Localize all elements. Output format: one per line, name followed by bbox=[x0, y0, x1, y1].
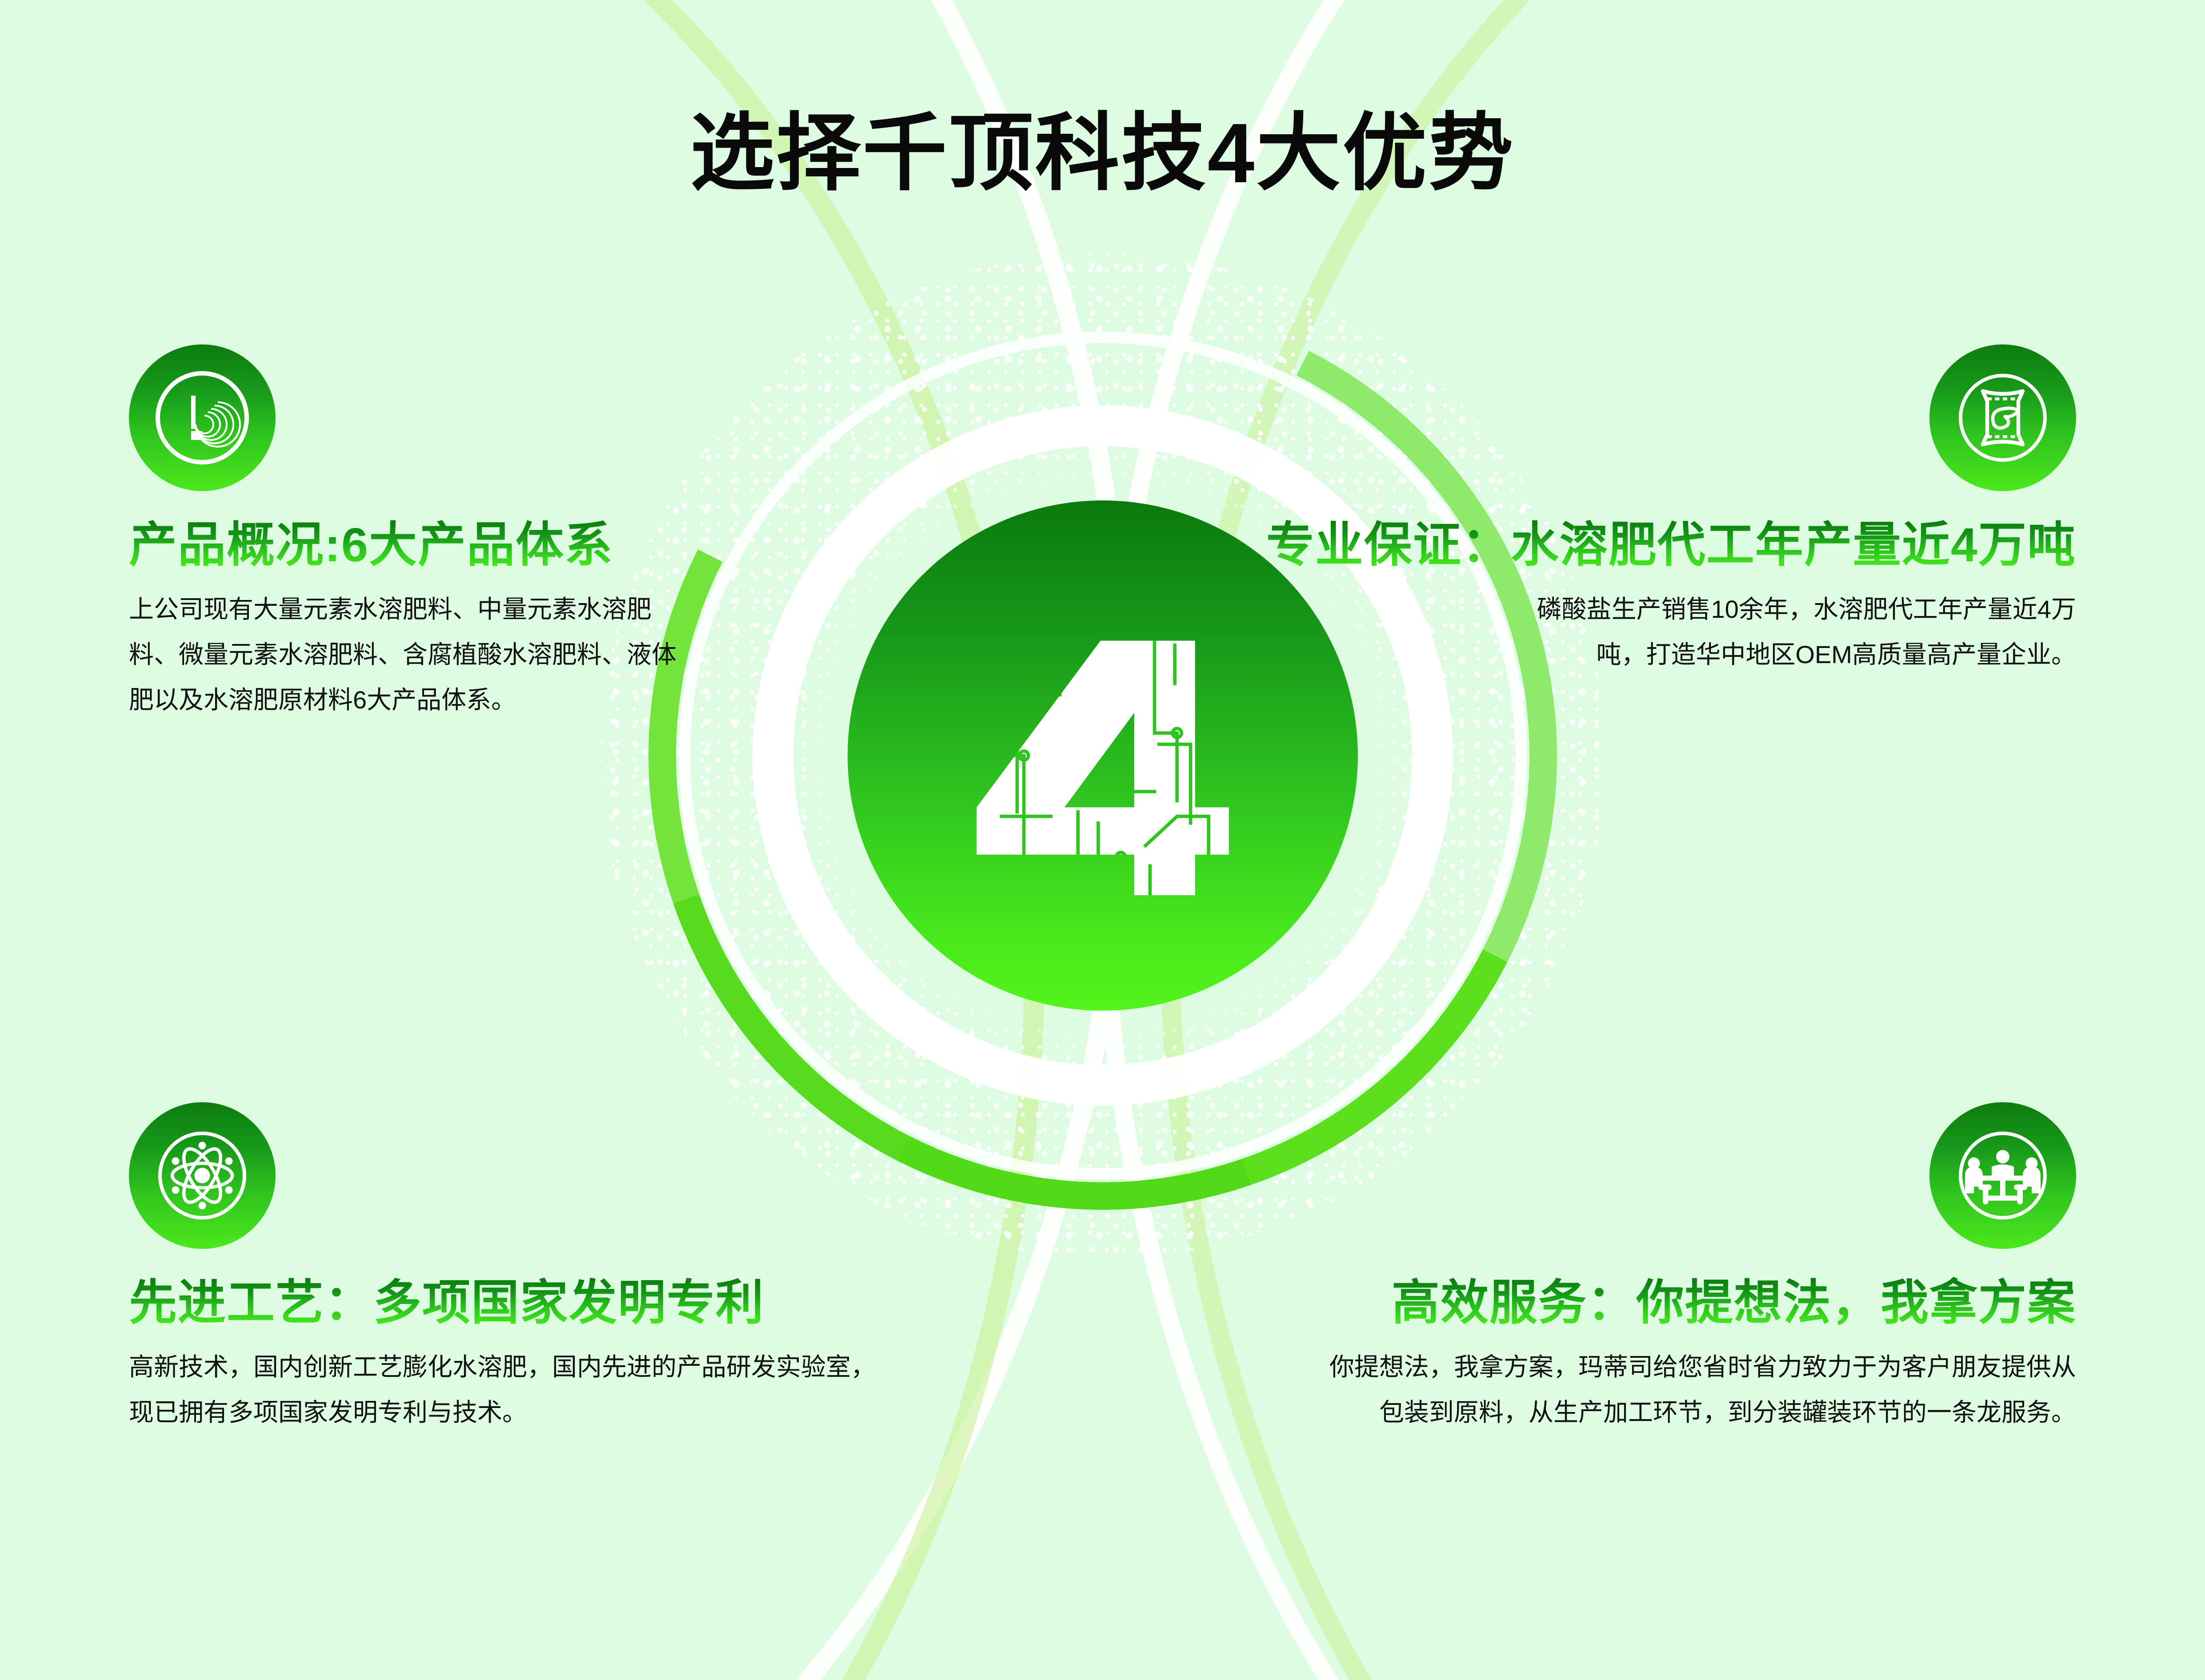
advantage-block-top-left: 产品概况:6大产品体系 上公司现有大量元素水溶肥料、中量元素水溶肥料、微量元素水… bbox=[129, 344, 702, 723]
atom-icon bbox=[129, 1102, 276, 1249]
number-six-rings-icon bbox=[129, 344, 276, 491]
people-at-table-glyph bbox=[1947, 1120, 2058, 1231]
advantage-block-top-right: 专业保证：水溶肥代工年产量近4万吨 磷酸盐生产销售10余年，水溶肥代工年产量近4… bbox=[1161, 344, 2076, 677]
fertilizer-bag-icon bbox=[1929, 344, 2076, 491]
advantage-heading: 高效服务：你提想法，我拿方案 bbox=[1321, 1276, 2076, 1329]
advantage-block-bottom-left: 先进工艺：多项国家发明专利 高新技术，国内创新工艺膨化水溶肥，国内先进的产品研发… bbox=[129, 1102, 884, 1435]
advantage-body: 磷酸盐生产销售10余年，水溶肥代工年产量近4万吨，打造华中地区OEM高质量高产量… bbox=[1498, 587, 2076, 677]
advantage-heading: 先进工艺：多项国家发明专利 bbox=[129, 1276, 884, 1329]
advantage-heading: 产品概况:6大产品体系 bbox=[129, 519, 702, 572]
advantage-block-bottom-right: 高效服务：你提想法，我拿方案 你提想法，我拿方案，玛蒂司给您省时省力致力于为客户… bbox=[1321, 1102, 2076, 1435]
advantage-body: 上公司现有大量元素水溶肥料、中量元素水溶肥料、微量元素水溶肥料、含腐植酸水溶肥料… bbox=[129, 587, 689, 723]
atom-glyph bbox=[147, 1120, 258, 1231]
page-title: 选择千顶科技4大优势 bbox=[0, 84, 2205, 207]
advantage-heading: 专业保证：水溶肥代工年产量近4万吨 bbox=[1161, 519, 2076, 572]
fertilizer-bag-glyph bbox=[1947, 362, 2058, 473]
advantage-body: 高新技术，国内创新工艺膨化水溶肥，国内先进的产品研发实验室，现已拥有多项国家发明… bbox=[129, 1344, 876, 1435]
six-concentric-arcs-glyph bbox=[147, 362, 258, 473]
meeting-people-icon bbox=[1929, 1102, 2076, 1249]
advantage-body: 你提想法，我拿方案，玛蒂司给您省时省力致力于为客户朋友提供从包装到原料，从生产加… bbox=[1325, 1344, 2076, 1435]
